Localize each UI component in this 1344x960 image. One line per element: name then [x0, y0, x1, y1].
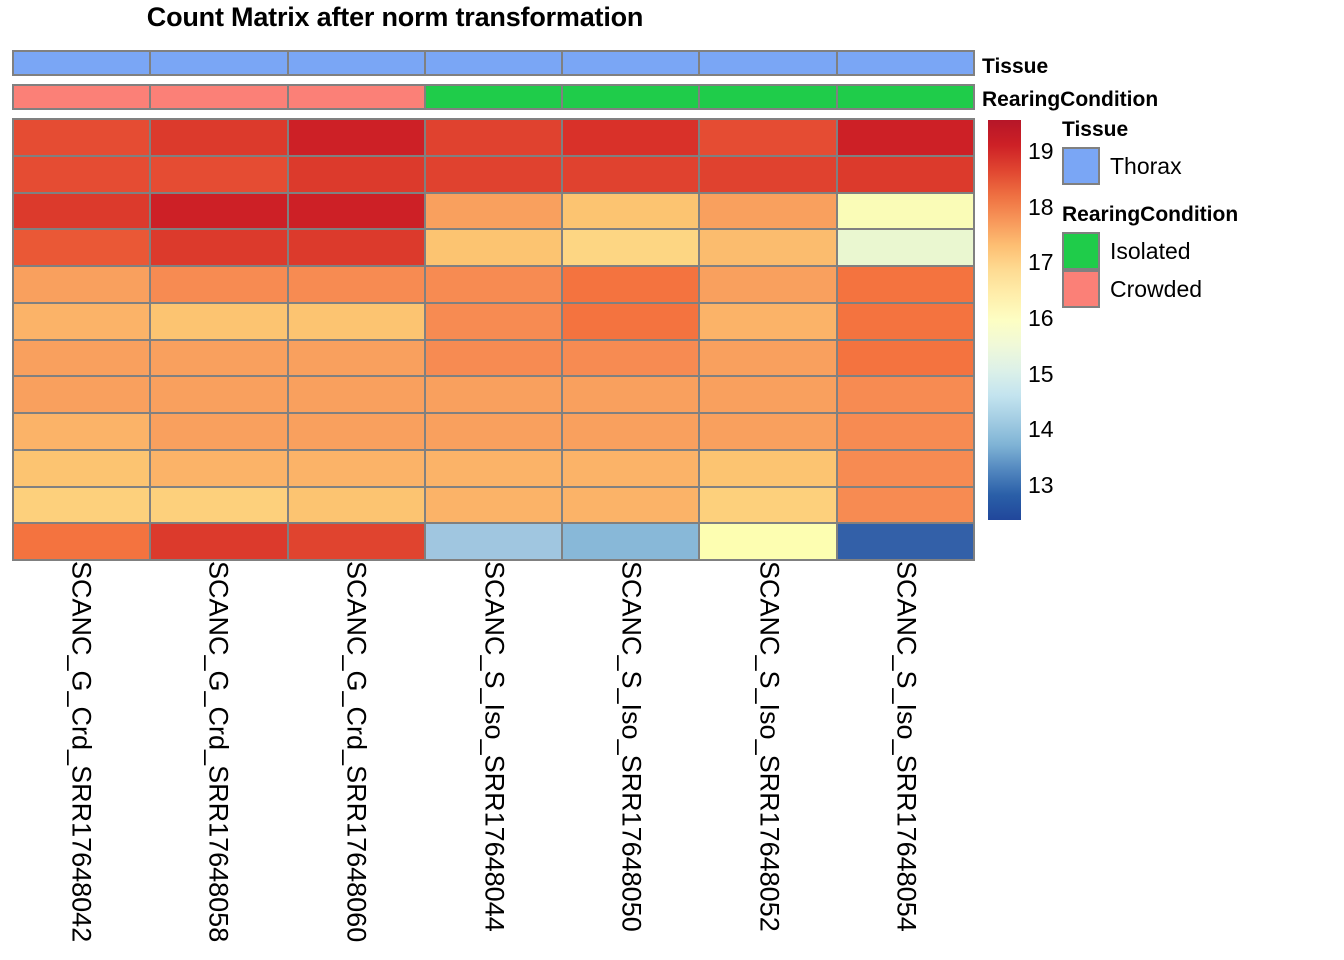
annotation-bar-tissue: [12, 50, 975, 76]
column-label: SCANC_S_Iso_SRR17648050: [618, 561, 645, 932]
legend-title-tissue: Tissue: [1062, 118, 1128, 142]
heatmap-cell: [424, 302, 563, 341]
heatmap-cell: [836, 155, 975, 194]
heatmap-cell: [12, 486, 151, 525]
annotation-cell-rearing-3: [424, 84, 563, 110]
annotation-cell-tissue-0: [12, 50, 151, 76]
column-label-slot-3: SCANC_S_Iso_SRR17648044: [425, 561, 563, 957]
colorbar-tick-13: 13: [1028, 472, 1054, 499]
legend-swatch-thorax: [1062, 147, 1100, 185]
heatmap-cell: [12, 522, 151, 561]
heatmap-cell: [561, 412, 700, 451]
heatmap-row: [12, 228, 975, 265]
heatmap-cell: [287, 412, 426, 451]
heatmap-cell: [149, 522, 288, 561]
heatmap-cell: [561, 302, 700, 341]
annotation-bar-rearing-condition: [12, 84, 975, 110]
heatmap-cell: [836, 522, 975, 561]
heatmap-cell: [698, 265, 837, 304]
heatmap-cell: [836, 339, 975, 378]
heatmap-cell: [698, 192, 837, 231]
annotation-cell-rearing-0: [12, 84, 151, 110]
heatmap-row: [12, 486, 975, 523]
heatmap-row: [12, 265, 975, 302]
heatmap-row: [12, 375, 975, 412]
legend-swatch-isolated: [1062, 232, 1100, 270]
heatmap-cell: [698, 449, 837, 488]
heatmap-cell: [149, 449, 288, 488]
heatmap-cell: [287, 449, 426, 488]
heatmap-cell: [424, 155, 563, 194]
heatmap-row: [12, 449, 975, 486]
heatmap-cell: [424, 375, 563, 414]
heatmap-cell: [836, 486, 975, 525]
heatmap-cell: [12, 118, 151, 157]
annotation-cell-rearing-6: [836, 84, 975, 110]
heatmap-cell: [698, 412, 837, 451]
column-labels: SCANC_G_Crd_SRR17648042SCANC_G_Crd_SRR17…: [12, 561, 975, 957]
heatmap-cell: [561, 192, 700, 231]
heatmap-cell: [698, 375, 837, 414]
annotation-cell-rearing-5: [698, 84, 837, 110]
column-label: SCANC_S_Iso_SRR17648054: [893, 561, 920, 932]
heatmap-cell: [149, 302, 288, 341]
legend-title-rearing-condition: RearingCondition: [1062, 203, 1238, 227]
heatmap-figure: Count Matrix after norm transformation T…: [0, 0, 1344, 960]
heatmap-row: [12, 339, 975, 376]
heatmap-cell: [12, 265, 151, 304]
colorbar-tick-17: 17: [1028, 249, 1054, 276]
colorbar-tick-16: 16: [1028, 305, 1054, 332]
column-label-slot-5: SCANC_S_Iso_SRR17648052: [700, 561, 838, 957]
heatmap-cell: [561, 155, 700, 194]
heatmap-cell: [12, 228, 151, 267]
annotation-cell-tissue-3: [424, 50, 563, 76]
column-label-slot-4: SCANC_S_Iso_SRR17648050: [562, 561, 700, 957]
heatmap-cell: [287, 339, 426, 378]
heatmap-cell: [149, 486, 288, 525]
heatmap-cell: [561, 339, 700, 378]
heatmap-cell: [698, 228, 837, 267]
heatmap-cell: [287, 118, 426, 157]
heatmap-cell: [561, 375, 700, 414]
heatmap-cell: [12, 155, 151, 194]
heatmap-row: [12, 302, 975, 339]
column-label: SCANC_S_Iso_SRR17648044: [480, 561, 507, 932]
heatmap-cell: [12, 412, 151, 451]
heatmap-cell: [836, 302, 975, 341]
heatmap-cell: [287, 192, 426, 231]
heatmap-cell: [12, 375, 151, 414]
heatmap-cell: [287, 265, 426, 304]
heatmap-cell: [561, 522, 700, 561]
annotation-cell-rearing-2: [287, 84, 426, 110]
heatmap-cell: [149, 118, 288, 157]
heatmap-cell: [424, 449, 563, 488]
heatmap-cell: [424, 522, 563, 561]
heatmap-cell: [149, 412, 288, 451]
heatmap-cell: [836, 192, 975, 231]
heatmap-cell: [287, 302, 426, 341]
heatmap-cell: [424, 339, 563, 378]
heatmap-cell: [561, 449, 700, 488]
heatmap-cell: [12, 339, 151, 378]
heatmap-cell: [287, 522, 426, 561]
heatmap-cell: [561, 265, 700, 304]
column-label: SCANC_S_Iso_SRR17648052: [755, 561, 782, 932]
column-label: SCANC_G_Crd_SRR17648058: [205, 561, 232, 942]
legend-label-crowded: Crowded: [1110, 276, 1202, 303]
heatmap-cell: [287, 486, 426, 525]
heatmap-cell: [836, 412, 975, 451]
heatmap-cell: [287, 155, 426, 194]
annotation-cell-tissue-1: [149, 50, 288, 76]
heatmap-row: [12, 192, 975, 229]
heatmap-cell: [424, 265, 563, 304]
heatmap-cell: [424, 412, 563, 451]
heatmap-row: [12, 522, 975, 559]
annotation-cell-tissue-4: [561, 50, 700, 76]
heatmap-cell: [561, 486, 700, 525]
colorbar-tick-15: 15: [1028, 361, 1054, 388]
heatmap-cell: [12, 302, 151, 341]
colorbar-tick-19: 19: [1028, 138, 1054, 165]
heatmap-cell: [698, 339, 837, 378]
annotation-label-tissue: Tissue: [982, 55, 1048, 79]
legend-swatch-crowded: [1062, 270, 1100, 308]
annotation-cell-rearing-1: [149, 84, 288, 110]
annotation-cell-tissue-5: [698, 50, 837, 76]
heatmap-cell: [836, 449, 975, 488]
colorbar-tick-18: 18: [1028, 194, 1054, 221]
heatmap-cell: [149, 228, 288, 267]
heatmap-cell: [287, 228, 426, 267]
heatmap-cell: [149, 375, 288, 414]
legend-entry-isolated[interactable]: Isolated: [1062, 232, 1191, 270]
heatmap-cell: [287, 375, 426, 414]
heatmap-cell: [698, 155, 837, 194]
colorbar-tick-14: 14: [1028, 416, 1054, 443]
annotation-label-rearing-condition: RearingCondition: [982, 88, 1158, 112]
heatmap-cell: [561, 228, 700, 267]
heatmap-grid: [12, 118, 975, 559]
heatmap-cell: [12, 449, 151, 488]
legend-entry-crowded[interactable]: Crowded: [1062, 270, 1202, 308]
annotation-cell-tissue-6: [836, 50, 975, 76]
column-label-slot-2: SCANC_G_Crd_SRR17648060: [287, 561, 425, 957]
heatmap-cell: [698, 486, 837, 525]
heatmap-cell: [561, 118, 700, 157]
colorbar-gradient: [988, 120, 1021, 520]
heatmap-cell: [698, 118, 837, 157]
colorbar: [988, 120, 1021, 520]
heatmap-cell: [149, 155, 288, 194]
heatmap-cell: [149, 192, 288, 231]
heatmap-cell: [12, 192, 151, 231]
annotation-cell-rearing-4: [561, 84, 700, 110]
column-label-slot-0: SCANC_G_Crd_SRR17648042: [12, 561, 150, 957]
heatmap-cell: [424, 486, 563, 525]
column-label-slot-6: SCANC_S_Iso_SRR17648054: [837, 561, 975, 957]
heatmap-cell: [149, 339, 288, 378]
legend-entry-thorax[interactable]: Thorax: [1062, 147, 1182, 185]
annotation-cell-tissue-2: [287, 50, 426, 76]
heatmap-row: [12, 118, 975, 155]
heatmap-cell: [698, 522, 837, 561]
heatmap-cell: [424, 192, 563, 231]
legend-label-isolated: Isolated: [1110, 238, 1191, 265]
heatmap-cell: [424, 118, 563, 157]
column-label: SCANC_G_Crd_SRR17648042: [67, 561, 94, 942]
legend-label-thorax: Thorax: [1110, 153, 1182, 180]
heatmap-row: [12, 155, 975, 192]
column-label-slot-1: SCANC_G_Crd_SRR17648058: [150, 561, 288, 957]
heatmap-cell: [836, 118, 975, 157]
heatmap-cell: [424, 228, 563, 267]
heatmap-cell: [836, 265, 975, 304]
page-title: Count Matrix after norm transformation: [0, 2, 790, 33]
column-label: SCANC_G_Crd_SRR17648060: [342, 561, 369, 942]
heatmap-cell: [836, 228, 975, 267]
heatmap-row: [12, 412, 975, 449]
heatmap-cell: [149, 265, 288, 304]
heatmap-cell: [698, 302, 837, 341]
heatmap-cell: [836, 375, 975, 414]
